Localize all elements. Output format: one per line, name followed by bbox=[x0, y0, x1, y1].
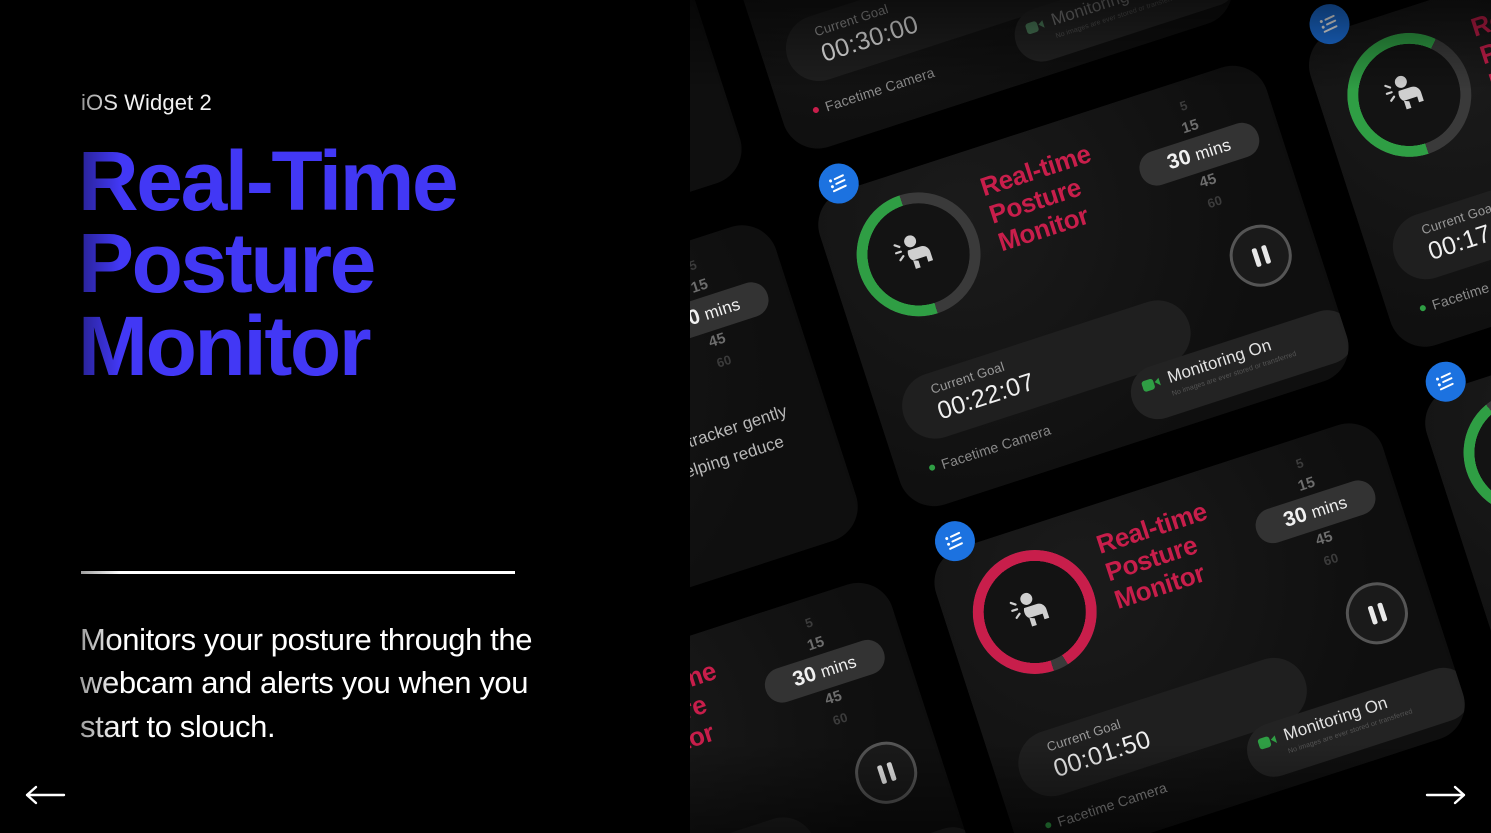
widget-description: Stay aligned as you work. Our posture tr… bbox=[690, 393, 819, 599]
slide-canvas: Real-time Posture Monitor 5 15 30mins 45… bbox=[0, 0, 1491, 833]
camera-status-dot bbox=[1419, 304, 1427, 312]
posture-icon-hub bbox=[1345, 30, 1474, 159]
posture-progress-ring bbox=[840, 176, 996, 332]
pause-icon bbox=[1250, 247, 1261, 267]
duration-picker[interactable]: 5 15 30mins 45 60 bbox=[746, 593, 902, 748]
pause-icon-bar-2 bbox=[885, 761, 896, 781]
widget-title-line-1: Real-time bbox=[1467, 0, 1491, 42]
camera-status-dot bbox=[812, 106, 820, 114]
card-surface: Real-time Posture Monitor 5 15 30mins 45… bbox=[690, 573, 983, 833]
pause-session-button[interactable] bbox=[847, 733, 925, 811]
reminders-list-icon bbox=[1431, 367, 1459, 395]
duration-picker[interactable]: 5 15 30mins 45 60 bbox=[690, 235, 786, 390]
reminders-list-icon bbox=[1315, 10, 1343, 38]
headline-line-3: Monitor bbox=[78, 305, 638, 387]
page-title: Real-Time Posture Monitor bbox=[78, 140, 638, 387]
divider-rule bbox=[81, 571, 515, 574]
posture-progress-ring bbox=[1331, 16, 1487, 172]
reminders-list-icon bbox=[824, 169, 852, 197]
widget-collage: Real-time Posture Monitor 5 15 30mins 45… bbox=[690, 0, 1491, 833]
current-goal-pill[interactable]: Current Goal 00:07:31 bbox=[690, 808, 824, 833]
seated-person-alert-icon bbox=[998, 575, 1071, 648]
intro-panel: iOS Widget 2 Real-Time Posture Monitor M… bbox=[0, 0, 700, 833]
pause-session-button[interactable] bbox=[1221, 216, 1299, 294]
widget-title: Real-time Posture Monitor bbox=[976, 139, 1112, 257]
camera-status-dot bbox=[928, 463, 936, 471]
video-camera-icon bbox=[1256, 732, 1278, 750]
eyebrow-label: iOS Widget 2 bbox=[81, 90, 212, 116]
posture-icon-hub bbox=[854, 190, 983, 319]
widget-collage-grid: Real-time Posture Monitor 5 15 30mins 45… bbox=[690, 0, 1491, 833]
video-camera-icon bbox=[1140, 374, 1162, 392]
reminders-list-icon bbox=[941, 527, 969, 555]
prev-slide-button[interactable] bbox=[18, 775, 72, 815]
current-goal-label: Current Goal bbox=[690, 817, 812, 833]
pause-session-button[interactable] bbox=[1337, 574, 1415, 652]
posture-progress-ring bbox=[956, 533, 1112, 689]
video-camera-icon bbox=[1024, 17, 1046, 35]
widget-title: Real-time Posture Monitor bbox=[1467, 0, 1491, 98]
pause-icon-bar-2 bbox=[1260, 244, 1271, 264]
monitoring-toggle[interactable]: Monitoring Off No images are ever stored… bbox=[1007, 0, 1241, 68]
next-slide-button[interactable] bbox=[1419, 775, 1473, 815]
pause-icon-bar-2 bbox=[1376, 601, 1387, 621]
duration-picker[interactable]: 5 15 30mins 45 60 bbox=[1237, 434, 1393, 589]
headline-line-2: Posture bbox=[78, 222, 638, 304]
widget-title: Real-time Posture Monitor bbox=[1092, 496, 1228, 614]
pause-icon bbox=[1366, 605, 1377, 625]
camera-status-dot bbox=[1044, 821, 1052, 829]
posture-icon-hub bbox=[970, 547, 1099, 676]
seated-person-alert-icon bbox=[882, 217, 955, 290]
pause-icon bbox=[876, 764, 887, 784]
duration-picker[interactable]: 5 15 30mins 45 60 bbox=[1121, 76, 1277, 231]
arrow-left-icon bbox=[24, 785, 66, 805]
posture-widget-card[interactable]: Real-time Posture Monitor 5 15 30mins 45… bbox=[690, 573, 983, 833]
description-text: Monitors your posture through the webcam… bbox=[80, 618, 590, 748]
seated-person-alert-icon bbox=[1372, 58, 1445, 131]
arrow-right-icon bbox=[1425, 785, 1467, 805]
headline-line-1: Real-Time bbox=[78, 140, 638, 222]
